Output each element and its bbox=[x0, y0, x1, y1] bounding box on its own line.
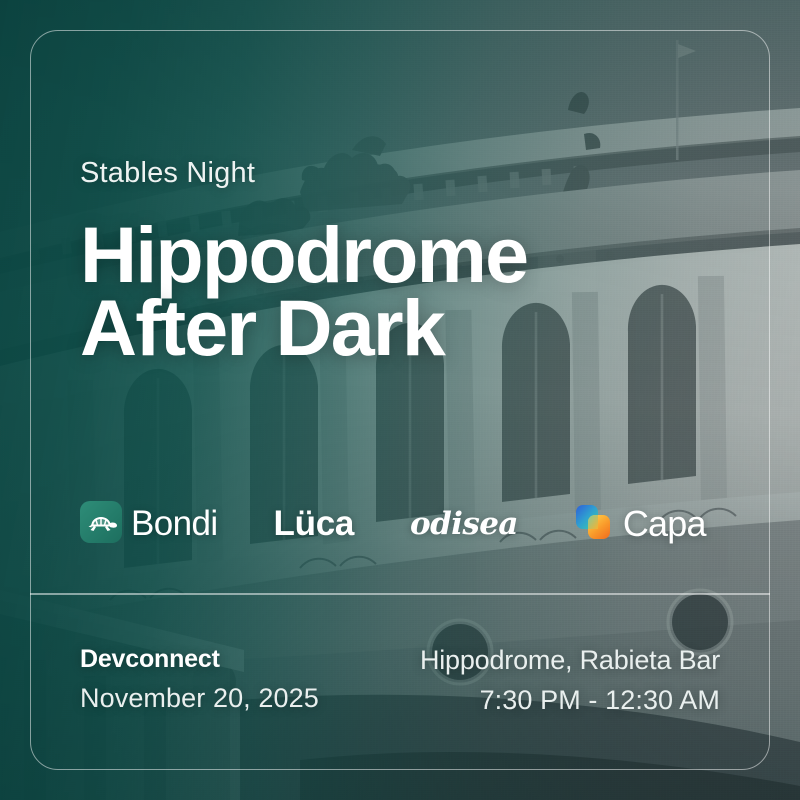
luca-label: Lüca bbox=[274, 504, 355, 544]
venue-name: Hippodrome, Rabieta Bar bbox=[420, 645, 720, 676]
capa-squares-icon bbox=[574, 501, 614, 548]
title-line-2: After Dark bbox=[80, 291, 730, 364]
odisea-label: odisea bbox=[410, 506, 518, 542]
organizer-name: Devconnect bbox=[80, 645, 319, 674]
capa-label: Capa bbox=[623, 503, 706, 545]
sponsor-capa[interactable]: Capa bbox=[574, 497, 706, 551]
event-eyebrow: Stables Night bbox=[80, 157, 255, 190]
sponsor-bondi[interactable]: Bondi bbox=[80, 497, 218, 551]
page-title: Hippodrome After Dark bbox=[80, 218, 730, 365]
sponsor-odisea[interactable]: odisea bbox=[410, 497, 518, 551]
footer-organizer-block: Devconnect November 20, 2025 bbox=[80, 645, 319, 714]
event-poster: Stables Night Hippodrome After Dark bbox=[0, 0, 800, 800]
footer-venue-block: Hippodrome, Rabieta Bar 7:30 PM - 12:30 … bbox=[420, 645, 720, 716]
sponsor-logo-row: Bondi Lüca odisea bbox=[80, 497, 706, 551]
event-time: 7:30 PM - 12:30 AM bbox=[420, 685, 720, 716]
event-date: November 20, 2025 bbox=[80, 683, 319, 714]
sponsor-luca[interactable]: Lüca bbox=[274, 497, 355, 551]
bondi-label: Bondi bbox=[131, 504, 218, 544]
title-line-1: Hippodrome bbox=[80, 218, 730, 291]
bondi-turtle-icon bbox=[80, 501, 122, 548]
